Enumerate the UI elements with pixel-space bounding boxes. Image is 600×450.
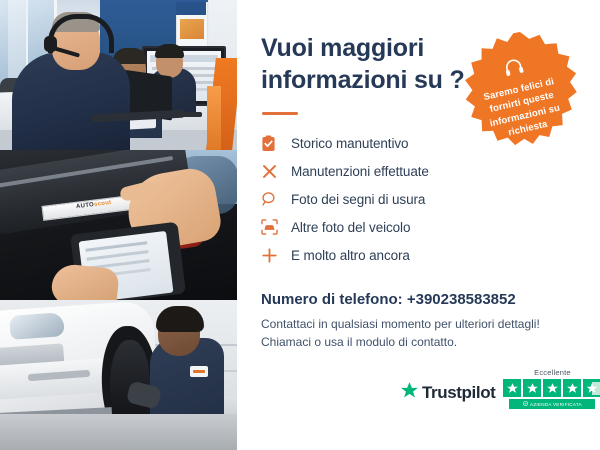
verified-badge: AZIENDA VERIFICATA — [509, 399, 595, 409]
check-circle-icon — [523, 401, 528, 407]
headset-icon — [501, 55, 528, 83]
trustpilot-stars — [503, 379, 600, 397]
feature-item-altro: E molto altro ancora — [261, 241, 561, 269]
phone-number[interactable]: +390238583852 — [407, 291, 516, 308]
star-filled-4 — [563, 379, 581, 397]
feature-label: Manutenzioni effettuate — [291, 164, 429, 179]
title-underline-rule — [262, 112, 298, 115]
verified-label: AZIENDA VERIFICATA — [530, 402, 582, 407]
trustpilot-widget[interactable]: Trustpilot Eccellente — [400, 368, 600, 409]
promo-banner: AUTOscout — [0, 0, 600, 450]
feature-item-storico: Storico manutentivo — [261, 129, 561, 157]
trustpilot-logo: Trustpilot — [400, 381, 495, 409]
mechanic-logo-badge — [190, 366, 208, 377]
feature-label: Storico manutentivo — [291, 136, 408, 151]
feature-label: Foto dei segni di usura — [291, 192, 425, 207]
trustpilot-star-icon — [400, 381, 419, 405]
headlight-shape — [9, 312, 65, 340]
garage-floor-shape — [0, 414, 237, 450]
trustpilot-rating-block: Eccellente — [503, 368, 600, 409]
clipboard-check-icon — [261, 135, 291, 152]
feature-label: E molto altro ancora — [291, 248, 410, 263]
feature-label: Altre foto del veicolo — [291, 220, 410, 235]
contact-text-line-2: Chiamaci o usa il modulo di contatto. — [261, 335, 457, 349]
phone-line: Numero di telefono: +390238583852 — [261, 291, 516, 308]
photo-call-center — [0, 0, 237, 150]
star-filled-2 — [523, 379, 541, 397]
feature-list: Storico manutentivo Manutenzioni effettu… — [261, 129, 561, 269]
plus-icon — [261, 247, 291, 264]
photo-wheel-inspection — [0, 300, 237, 450]
star-filled-1 — [503, 379, 521, 397]
photo-column: AUTOscout — [0, 0, 237, 450]
crossed-tools-icon — [261, 163, 291, 180]
trustpilot-rating-label: Eccellente — [534, 368, 571, 377]
feature-item-manutenzioni: Manutenzioni effettuate — [261, 157, 561, 185]
star-half-5 — [583, 379, 600, 397]
scan-car-icon — [261, 219, 291, 235]
magnifier-icon — [261, 191, 291, 207]
phone-label: Numero di telefono: — [261, 291, 403, 308]
orange-pillar-highlight-shape — [207, 86, 221, 150]
person-3-hair-shape — [155, 44, 184, 58]
trustpilot-wordmark: Trustpilot — [422, 383, 495, 403]
contact-text-line-1: Contattaci in qualsiasi momento per ulte… — [261, 317, 540, 331]
page-title: Vuoi maggiori informazioni su ? — [261, 32, 476, 96]
poster-header-shape — [176, 2, 206, 15]
photo-damage-inspection: AUTOscout — [0, 150, 237, 300]
star-filled-3 — [543, 379, 561, 397]
mechanic-hair-shape — [156, 306, 204, 332]
feature-item-altre-foto: Altre foto del veicolo — [261, 213, 561, 241]
content-panel: Vuoi maggiori informazioni su ? Saremo f… — [237, 0, 600, 450]
feature-item-foto-usura: Foto dei segni di usura — [261, 185, 561, 213]
